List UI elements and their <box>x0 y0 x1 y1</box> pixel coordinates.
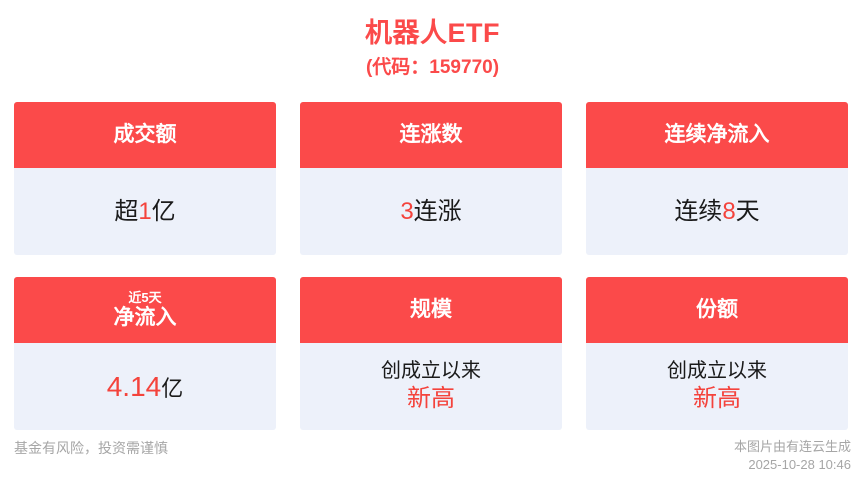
stat-card: 连涨数3连涨 <box>300 102 562 255</box>
stat-card-header: 成交额 <box>14 102 276 168</box>
stat-card-header-label: 规模 <box>410 297 452 323</box>
stat-card-value-line: 4.14亿 <box>107 369 184 404</box>
stat-card-value-line: 超1亿 <box>114 197 175 227</box>
stat-card-value-part: 3 <box>400 198 413 225</box>
risk-disclaimer: 基金有风险，投资需谨慎 <box>14 438 168 458</box>
stat-card-header-label: 连涨数 <box>400 122 463 148</box>
stat-card-body: 3连涨 <box>300 168 562 255</box>
stat-card-value-part: 亿 <box>152 198 176 225</box>
stat-card-value-line: 3连涨 <box>400 197 461 227</box>
stat-card-value-part: 连涨 <box>414 198 462 225</box>
stat-card-value-line: 创成立以来 <box>667 359 767 384</box>
stat-card-value-part: 4.14 <box>107 371 162 402</box>
stat-card-header-label: 份额 <box>696 297 738 323</box>
stat-card-value-part: 新高 <box>693 385 741 412</box>
stat-card: 规模创成立以来新高 <box>300 277 562 430</box>
stat-card-body: 连续8天 <box>586 168 848 255</box>
stat-card-value-part: 天 <box>736 198 760 225</box>
page-header: 机器人ETF (代码：159770) <box>0 0 865 82</box>
stat-card-header: 近5天净流入 <box>14 277 276 343</box>
source-attribution: 本图片由有连云生成 2025-10-28 10:46 <box>734 438 851 474</box>
stat-card-body: 4.14亿 <box>14 343 276 430</box>
stat-card-value-line: 新高 <box>407 384 455 414</box>
stat-card-value-line: 连续8天 <box>674 197 759 227</box>
stat-card-header-label: 连续净流入 <box>665 122 770 148</box>
stat-card-header-sublabel: 近5天 <box>128 290 161 306</box>
stat-card-header: 规模 <box>300 277 562 343</box>
stat-card: 近5天净流入4.14亿 <box>14 277 276 430</box>
stat-card-grid: 成交额超1亿连涨数3连涨连续净流入连续8天近5天净流入4.14亿规模创成立以来新… <box>14 102 851 430</box>
fund-code: (代码：159770) <box>0 54 865 82</box>
fund-title: 机器人ETF <box>0 16 865 50</box>
stat-card: 份额创成立以来新高 <box>586 277 848 430</box>
stat-card-value-part: 创成立以来 <box>667 360 767 382</box>
stat-card-value-line: 创成立以来 <box>381 359 481 384</box>
stat-card-value-part: 亿 <box>161 376 183 401</box>
stat-card-header-label: 成交额 <box>114 122 177 148</box>
stat-card-value-part: 创成立以来 <box>381 360 481 382</box>
stat-card-header: 连续净流入 <box>586 102 848 168</box>
stat-card-header: 份额 <box>586 277 848 343</box>
stat-card-header-label: 净流入 <box>114 306 177 330</box>
stat-card-value-part: 超 <box>114 198 138 225</box>
stat-card-header: 连涨数 <box>300 102 562 168</box>
stat-card: 连续净流入连续8天 <box>586 102 848 255</box>
generated-timestamp: 2025-10-28 10:46 <box>734 456 851 474</box>
stat-card-value-part: 新高 <box>407 385 455 412</box>
stat-card: 成交额超1亿 <box>14 102 276 255</box>
stat-card-body: 超1亿 <box>14 168 276 255</box>
stat-card-value-part: 连续 <box>674 198 722 225</box>
stat-card-value-part: 8 <box>722 198 735 225</box>
stat-card-value-line: 新高 <box>693 384 741 414</box>
stat-card-value-part: 1 <box>138 198 151 225</box>
page-footer: 基金有风险，投资需谨慎 本图片由有连云生成 2025-10-28 10:46 <box>0 433 865 479</box>
stat-card-body: 创成立以来新高 <box>586 343 848 430</box>
stat-card-body: 创成立以来新高 <box>300 343 562 430</box>
source-label: 本图片由有连云生成 <box>734 438 851 456</box>
